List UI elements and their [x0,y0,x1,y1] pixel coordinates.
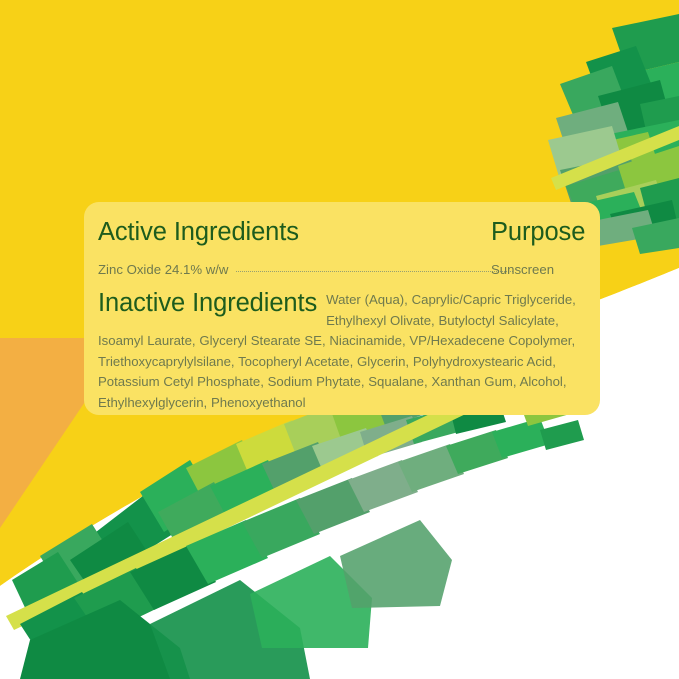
active-ingredient-row: Zinc Oxide 24.1% w/w Sunscreen [98,262,586,280]
active-ingredient-name: Zinc Oxide 24.1% w/w [98,262,228,277]
inactive-ingredients-block: Inactive Ingredients Water (Aqua), Capry… [98,290,587,414]
purpose-heading: Purpose [491,218,585,247]
active-ingredient-purpose: Sunscreen [491,262,554,277]
ingredients-card: Active Ingredients Purpose Zinc Oxide 24… [84,202,600,415]
inactive-ingredients-heading: Inactive Ingredients [98,290,317,317]
dotted-leader-line [236,262,513,274]
active-ingredients-heading: Active Ingredients [98,218,299,247]
product-label-graphic: Active Ingredients Purpose Zinc Oxide 24… [0,0,679,679]
card-column-headers: Active Ingredients Purpose [98,218,586,252]
